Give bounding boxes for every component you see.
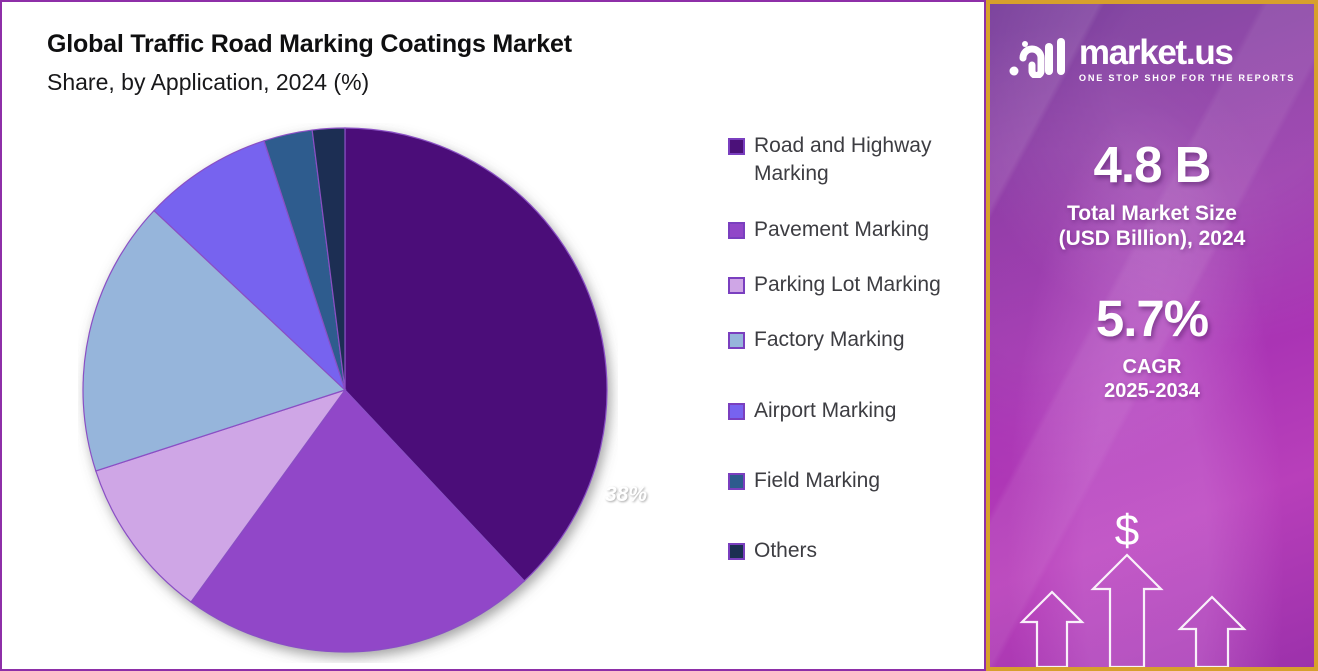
- legend-swatch-icon-field-marking: [728, 473, 745, 490]
- market-size-label: Total Market Size (USD Billion), 2024: [1059, 201, 1246, 251]
- cagr-value: 5.7%: [1096, 293, 1208, 344]
- market-size-value: 4.8 B: [1059, 139, 1246, 190]
- cagr-stat: 5.7% CAGR 2025-2034: [1096, 293, 1208, 403]
- cagr-label-line1: CAGR: [1096, 355, 1208, 379]
- arrow-up-left-icon: [1022, 592, 1082, 667]
- legend-item-airport-marking[interactable]: Airport Marking: [728, 397, 978, 425]
- pie-chart-svg: [78, 123, 618, 663]
- legend-label-airport-marking: Airport Marking: [754, 397, 896, 425]
- infographic-root: Global Traffic Road Marking Coatings Mar…: [0, 0, 1318, 671]
- cagr-label-line2: 2025-2034: [1096, 379, 1208, 403]
- legend-item-parking-lot-marking[interactable]: Parking Lot Marking: [728, 271, 978, 299]
- dollar-sign-icon: $: [1115, 507, 1139, 555]
- market-size-label-line1: Total Market Size: [1059, 201, 1246, 226]
- legend-swatch-icon-parking-lot-marking: [728, 277, 745, 294]
- legend-swatch-icon-road-and-highway-marking: [728, 138, 745, 155]
- chart-panel: Global Traffic Road Marking Coatings Mar…: [0, 0, 986, 671]
- market-size-label-line2: (USD Billion), 2024: [1059, 226, 1246, 251]
- title-block: Global Traffic Road Marking Coatings Mar…: [47, 30, 572, 96]
- page-title: Global Traffic Road Marking Coatings Mar…: [47, 30, 572, 59]
- legend-label-others: Others: [754, 537, 817, 565]
- legend-label-factory-marking: Factory Marking: [754, 326, 905, 354]
- growth-arrows-icon: $: [990, 507, 1314, 667]
- market-size-stat: 4.8 B Total Market Size (USD Billion), 2…: [1059, 139, 1246, 251]
- legend-swatch-icon-airport-marking: [728, 403, 745, 420]
- legend-swatch-icon-others: [728, 543, 745, 560]
- legend-label-parking-lot-marking: Parking Lot Marking: [754, 271, 941, 299]
- cagr-label: CAGR 2025-2034: [1096, 355, 1208, 403]
- legend-label-road-and-highway-marking: Road and Highway Marking: [754, 132, 976, 189]
- pie-chart: 38%: [78, 123, 618, 663]
- logo-wordmark: market.us: [1079, 35, 1295, 70]
- growth-arrows-graphic: $: [990, 507, 1314, 667]
- pie-slices: [83, 128, 607, 652]
- brand-logo[interactable]: market.us ONE STOP SHOP FOR THE REPORTS: [1009, 34, 1295, 83]
- legend-item-field-marking[interactable]: Field Marking: [728, 467, 978, 495]
- logo-bars-icon: [1009, 34, 1069, 78]
- page-subtitle: Share, by Application, 2024 (%): [47, 69, 572, 96]
- arrow-up-center-icon: [1093, 555, 1161, 667]
- legend-label-field-marking: Field Marking: [754, 467, 880, 495]
- arrow-up-right-icon: [1180, 597, 1244, 667]
- stats-panel: market.us ONE STOP SHOP FOR THE REPORTS …: [986, 0, 1318, 671]
- legend: Road and Highway Marking Pavement Markin…: [728, 132, 978, 568]
- logo-text-block: market.us ONE STOP SHOP FOR THE REPORTS: [1079, 35, 1295, 83]
- legend-item-road-and-highway-marking[interactable]: Road and Highway Marking: [728, 132, 978, 189]
- legend-item-others[interactable]: Others: [728, 537, 978, 565]
- legend-item-pavement-marking[interactable]: Pavement Marking: [728, 216, 978, 244]
- legend-label-pavement-marking: Pavement Marking: [754, 216, 929, 244]
- legend-swatch-icon-pavement-marking: [728, 222, 745, 239]
- logo-tagline: ONE STOP SHOP FOR THE REPORTS: [1079, 73, 1295, 83]
- legend-swatch-icon-factory-marking: [728, 332, 745, 349]
- market-us-logo-icon: [1009, 34, 1069, 83]
- legend-item-factory-marking[interactable]: Factory Marking: [728, 326, 978, 354]
